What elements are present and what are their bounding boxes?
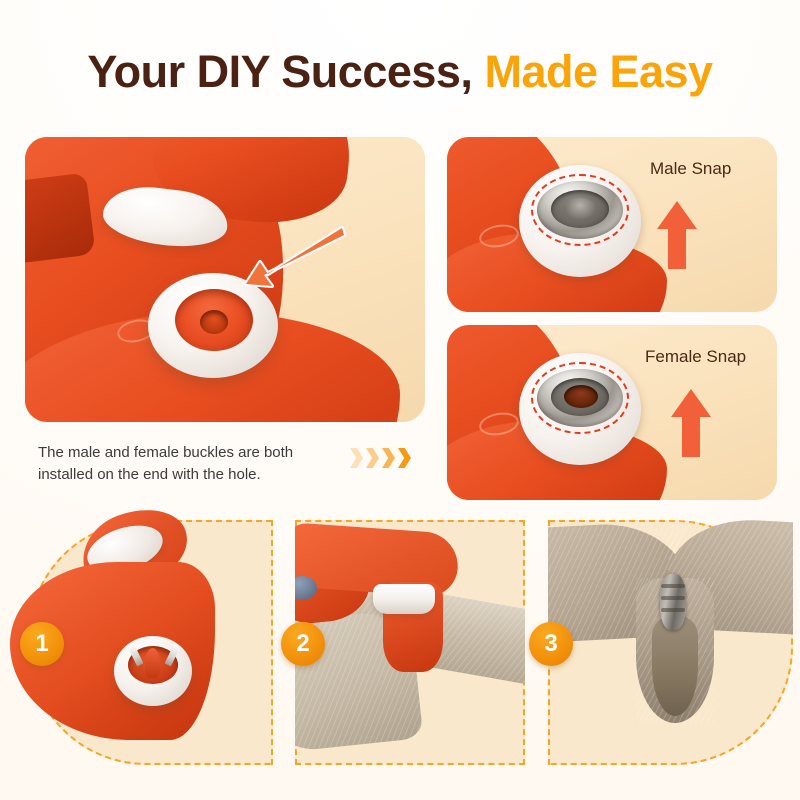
step-badge-3: 3 <box>529 622 573 666</box>
highlight-ellipse-icon <box>531 174 629 246</box>
fabric-fold-inner <box>652 616 698 716</box>
male-snap-panel: Male Snap <box>447 137 777 312</box>
caption-text: The male and female buckles are both ins… <box>38 442 338 486</box>
male-snap-label: Male Snap <box>650 159 731 179</box>
hero-photo-panel <box>25 137 425 422</box>
white-silicone-die <box>373 584 435 614</box>
step-2-photo <box>295 520 525 765</box>
chevron-right-icon <box>350 448 363 468</box>
step-panel-1 <box>28 520 273 765</box>
snap-center-pin <box>145 648 160 678</box>
chevron-right-icon <box>366 448 379 468</box>
step-panel-3 <box>548 520 793 765</box>
die-center-hole <box>200 310 228 334</box>
tool-notch <box>25 173 96 264</box>
step-badge-1: 1 <box>20 622 64 666</box>
pointer-arrow-icon <box>220 222 350 297</box>
chevron-right-icon <box>382 448 395 468</box>
female-scene: Female Snap <box>447 325 777 500</box>
step-panel-2 <box>295 520 525 765</box>
page-title-accent: Made Easy <box>484 46 712 97</box>
step-1-photo <box>28 520 273 765</box>
up-arrow-icon <box>669 387 713 459</box>
fastened-snap <box>660 574 686 630</box>
step-badge-2: 2 <box>281 622 325 666</box>
page-title: Your DIY Success, Made Easy <box>0 46 800 98</box>
up-arrow-icon <box>655 199 699 271</box>
male-scene: Male Snap <box>447 137 777 312</box>
female-snap-panel: Female Snap <box>447 325 777 500</box>
step-3-photo <box>548 520 793 765</box>
chevron-right-icon <box>398 448 411 468</box>
highlight-ellipse-icon <box>531 362 629 434</box>
page-title-primary: Your DIY Success, <box>87 46 472 97</box>
female-snap-label: Female Snap <box>645 347 746 367</box>
chevron-arrows <box>350 448 411 468</box>
hero-scene <box>25 137 425 422</box>
